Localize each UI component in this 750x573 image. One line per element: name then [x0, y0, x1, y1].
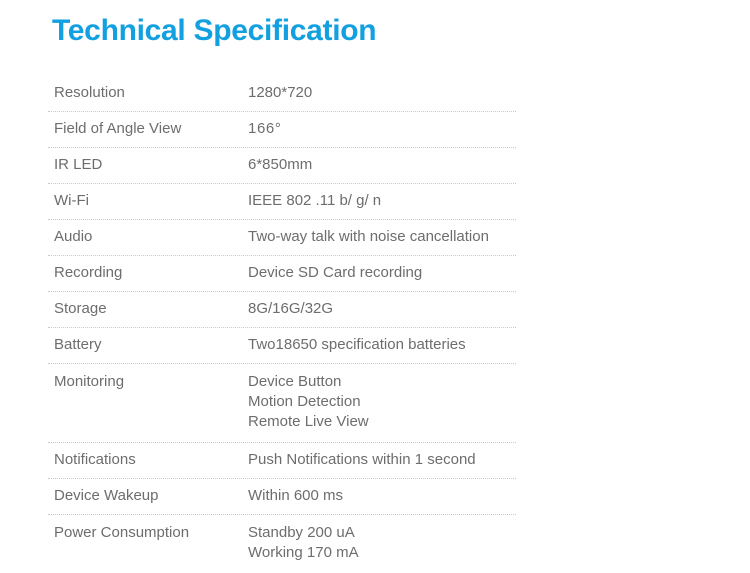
spec-label: Audio — [48, 220, 248, 254]
table-row: IR LED 6*850mm — [48, 148, 516, 184]
spec-label: Notifications — [48, 443, 248, 477]
spec-label: Monitoring — [48, 364, 248, 402]
table-row: Power Consumption Standby 200 uA Working… — [48, 515, 516, 573]
spec-value: Device Button Motion Detection Remote Li… — [248, 364, 516, 442]
spec-value: 6*850mm — [248, 148, 516, 182]
spec-value: 8G/16G/32G — [248, 292, 516, 326]
specification-table: Resolution 1280*720 Field of Angle View … — [48, 76, 516, 573]
table-row: Field of Angle View 166° — [48, 112, 516, 148]
table-row: Notifications Push Notifications within … — [48, 443, 516, 479]
table-row: Recording Device SD Card recording — [48, 256, 516, 292]
spec-value: Push Notifications within 1 second — [248, 443, 516, 477]
spec-value: 1280*720 — [248, 76, 516, 110]
table-row: Battery Two18650 specification batteries — [48, 328, 516, 364]
spec-value: Two18650 specification batteries — [248, 328, 516, 362]
spec-label: Resolution — [48, 76, 248, 110]
spec-value: Standby 200 uA Working 170 mA — [248, 515, 516, 573]
spec-label: Power Consumption — [48, 515, 248, 553]
specification-page: Technical Specification Resolution 1280*… — [0, 0, 750, 572]
table-row: Audio Two-way talk with noise cancellati… — [48, 220, 516, 256]
table-row: Monitoring Device Button Motion Detectio… — [48, 364, 516, 443]
spec-value: Two-way talk with noise cancellation — [248, 220, 516, 254]
spec-value: Device SD Card recording — [248, 256, 516, 290]
spec-value: Within 600 ms — [248, 479, 516, 513]
table-row: Wi-Fi IEEE 802 .11 b/ g/ n — [48, 184, 516, 220]
table-row: Device Wakeup Within 600 ms — [48, 479, 516, 515]
spec-value: IEEE 802 .11 b/ g/ n — [248, 184, 516, 218]
spec-label: Field of Angle View — [48, 112, 248, 146]
spec-label: Storage — [48, 292, 248, 326]
spec-value: 166° — [248, 112, 516, 146]
spec-label: Wi-Fi — [48, 184, 248, 218]
spec-label: Device Wakeup — [48, 479, 248, 513]
page-title: Technical Specification — [52, 12, 376, 50]
spec-label: Battery — [48, 328, 248, 362]
spec-label: IR LED — [48, 148, 248, 182]
table-row: Resolution 1280*720 — [48, 76, 516, 112]
spec-label: Recording — [48, 256, 248, 290]
table-row: Storage 8G/16G/32G — [48, 292, 516, 328]
